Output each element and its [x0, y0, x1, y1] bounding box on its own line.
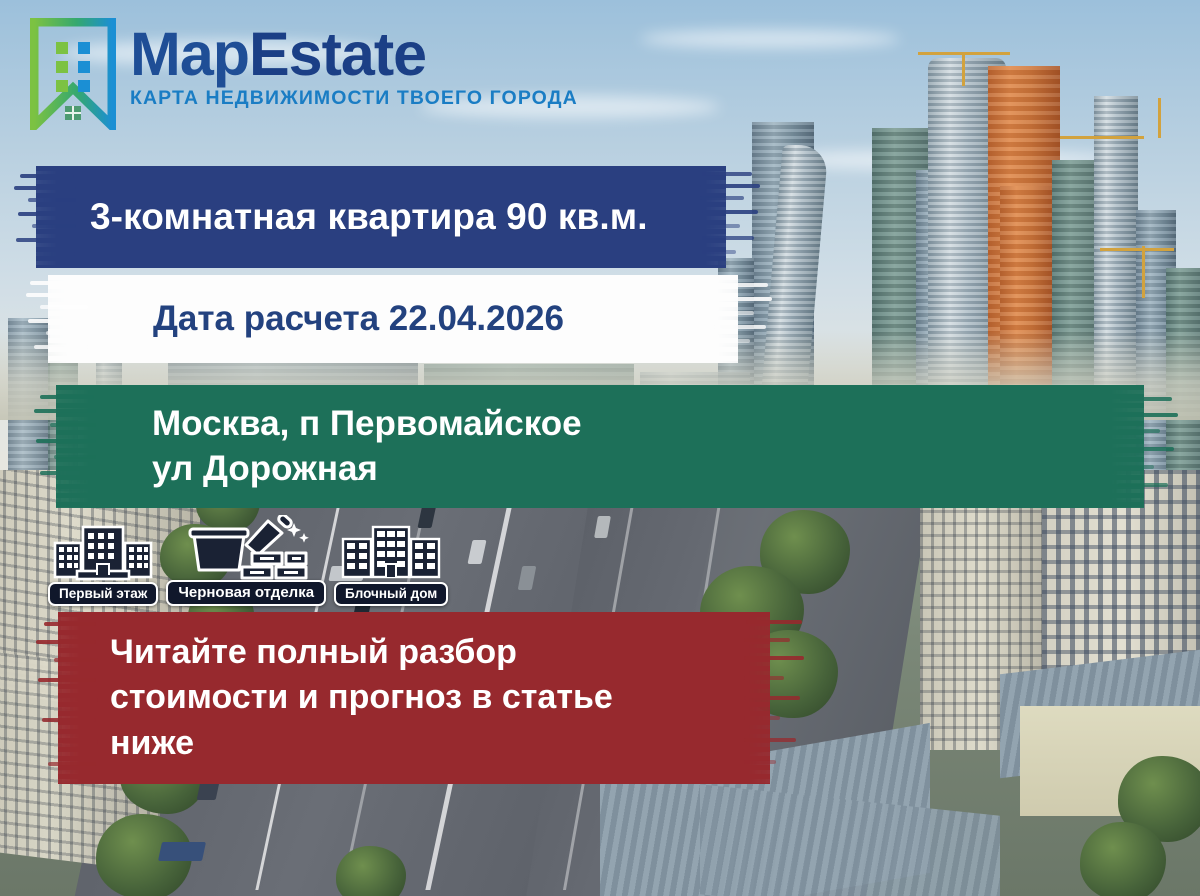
brand-logo[interactable]: MapEstate КАРТА НЕДВИЖИМОСТИ ТВОЕГО ГОРО… — [30, 18, 578, 130]
brand-text: MapEstate КАРТА НЕДВИЖИМОСТИ ТВОЕГО ГОРО… — [130, 18, 578, 110]
cta-banner-text: Читайте полный разбор стоимости и прогно… — [58, 630, 613, 766]
address-banner: Москва, п Первомайское ул Дорожная — [56, 385, 1144, 508]
address-banner-text: Москва, п Первомайское ул Дорожная — [56, 402, 582, 492]
cta-line-1: Читайте полный разбор — [110, 630, 613, 675]
bucket-trowel-bricks-icon — [182, 515, 310, 583]
date-banner: Дата расчета 22.04.2026 — [48, 275, 738, 363]
building-icon — [51, 521, 155, 585]
date-banner-text: Дата расчета 22.04.2026 — [48, 299, 564, 339]
brand-name-map: Map — [130, 20, 249, 88]
title-banner-text: 3-комнатная квартира 90 кв.м. — [36, 196, 648, 238]
title-banner: 3-комнатная квартира 90 кв.м. — [36, 166, 726, 268]
property-promo-poster: MapEstate КАРТА НЕДВИЖИМОСТИ ТВОЕГО ГОРО… — [0, 0, 1200, 896]
badge-rough-finish[interactable]: Черновая отделка — [166, 515, 326, 606]
brand-name: MapEstate — [130, 26, 578, 83]
address-line-1: Москва, п Первомайское — [152, 402, 582, 447]
cta-line-3: ниже — [110, 721, 613, 766]
brand-name-estate: Estate — [249, 20, 426, 88]
address-line-2: ул Дорожная — [152, 447, 582, 492]
badge-label: Первый этаж — [48, 582, 158, 606]
badge-label: Блочный дом — [334, 582, 448, 606]
badge-label: Черновая отделка — [166, 580, 326, 606]
badge-first-floor[interactable]: Первый этаж — [48, 521, 158, 606]
bookmark-building-icon — [30, 18, 116, 130]
brand-tagline: КАРТА НЕДВИЖИМОСТИ ТВОЕГО ГОРОДА — [130, 87, 578, 110]
cta-line-2: стоимости и прогноз в статье — [110, 675, 613, 720]
apartment-blocks-icon — [339, 521, 443, 585]
cta-banner: Читайте полный разбор стоимости и прогно… — [58, 612, 770, 784]
badge-block-house[interactable]: Блочный дом — [334, 521, 448, 606]
feature-badges: Первый этаж — [48, 515, 448, 606]
